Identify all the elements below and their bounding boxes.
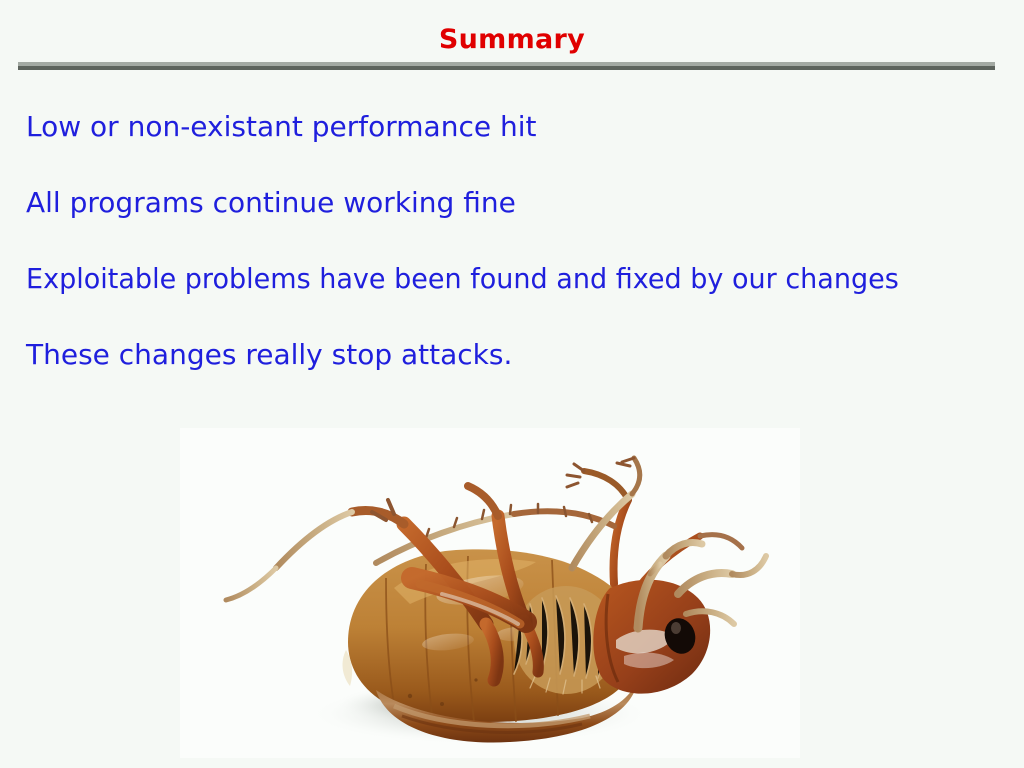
bullet-line-4: These changes really stop attacks. (26, 338, 986, 372)
title-divider (18, 62, 995, 70)
page-title: Summary (0, 26, 1024, 53)
beetle-illustration (180, 428, 800, 758)
bullet-line-1: Low or non-existant performance hit (26, 110, 986, 144)
bullet-line-2: All programs continue working fine (26, 186, 986, 220)
beetle-photo (180, 428, 800, 758)
bullet-list: Low or non-existant performance hit All … (26, 110, 986, 414)
title-divider-shadow (18, 66, 995, 70)
slide: Summary Low or non-existant performance … (0, 0, 1024, 768)
bullet-line-3: Exploitable problems have been found and… (26, 262, 952, 296)
